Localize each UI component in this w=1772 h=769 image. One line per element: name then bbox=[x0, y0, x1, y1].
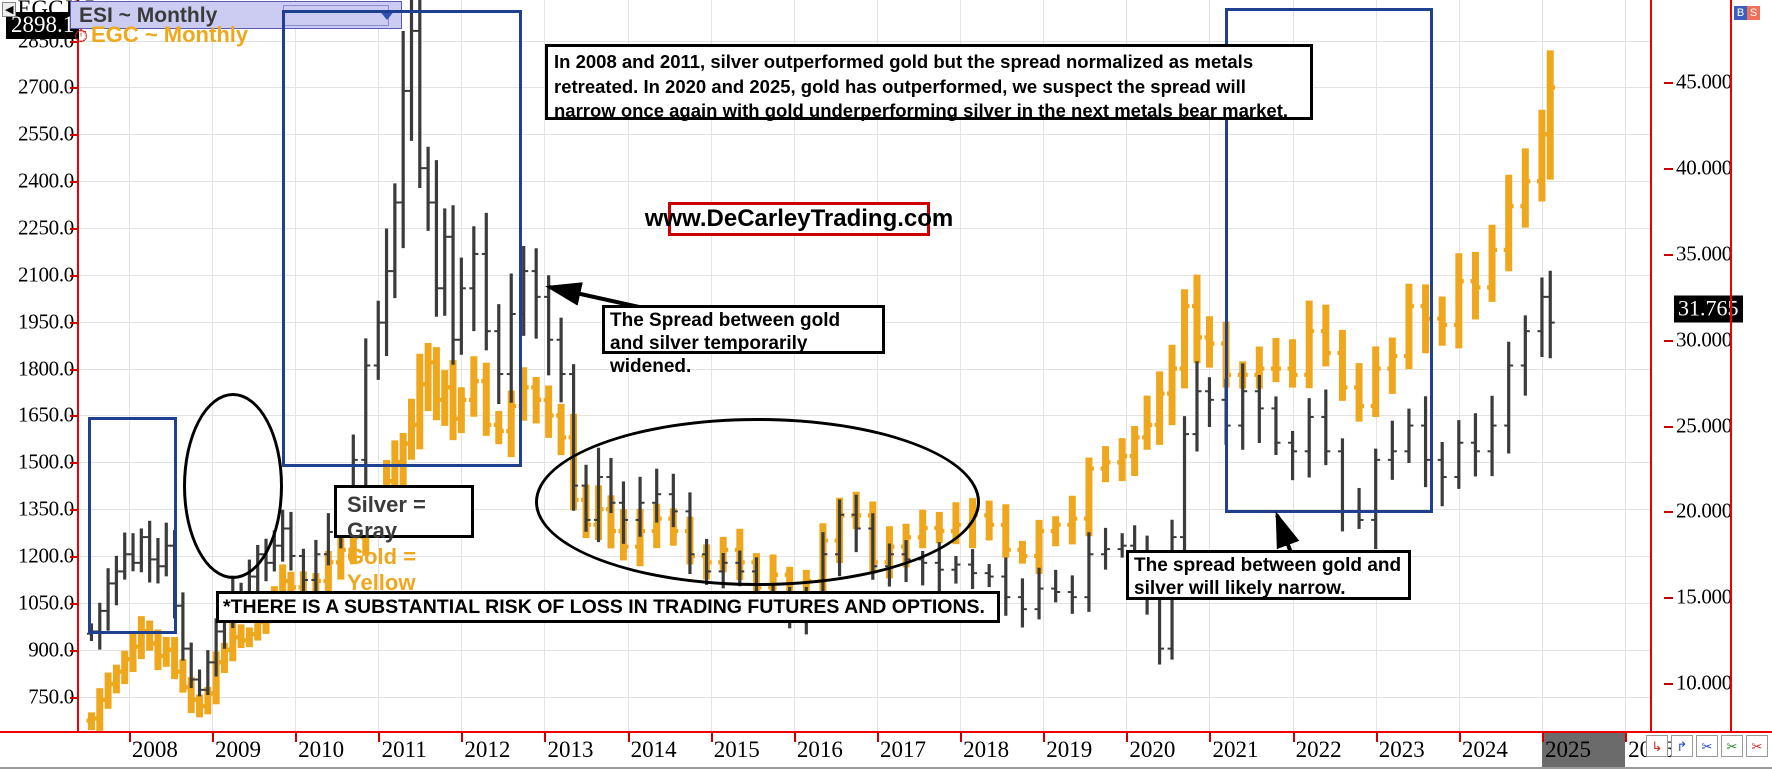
spread-narrow-text: The spread between gold and silver will … bbox=[1129, 553, 1408, 601]
time-axis-tickmark bbox=[295, 733, 297, 742]
risk-disclaimer-text: *THERE IS A SUBSTANTIAL RISK OF LOSS IN … bbox=[219, 594, 997, 619]
left-axis-line bbox=[77, 0, 79, 731]
time-axis-tickmark bbox=[461, 733, 463, 742]
time-axis-tickmark bbox=[1376, 733, 1378, 742]
time-axis-tickmark bbox=[1542, 733, 1544, 742]
risk-disclaimer-box: *THERE IS A SUBSTANTIAL RISK OF LOSS IN … bbox=[216, 591, 1000, 623]
time-axis-tick: 2015 bbox=[714, 737, 760, 763]
right-axis-tickmark bbox=[1664, 168, 1673, 170]
time-axis-tickmark bbox=[544, 733, 546, 742]
right-last-price-badge: 31.765 bbox=[1674, 296, 1743, 323]
second-symbol-label[interactable]: ⏱EGC ~ Monthly bbox=[74, 22, 248, 48]
right-axis-tick: 35.000 bbox=[1676, 241, 1732, 266]
right-axis-tickmark bbox=[1664, 82, 1673, 84]
right-axis-tick: 40.000 bbox=[1676, 156, 1732, 181]
chart-tool-buttons[interactable]: ↳↱✂✂✂ bbox=[1646, 735, 1768, 757]
left-axis-tick: 1950.0 bbox=[18, 309, 74, 334]
buy-badge[interactable]: B bbox=[1734, 6, 1747, 20]
highlight-rect-2008 bbox=[88, 417, 177, 634]
time-axis-tickmark bbox=[378, 733, 380, 742]
right-axis-tick: 30.000 bbox=[1676, 327, 1732, 352]
website-box[interactable]: www.DeCarleyTrading.com bbox=[668, 202, 930, 236]
left-price-axis[interactable]: 2850.02700.02550.02400.02250.02100.01950… bbox=[0, 0, 78, 731]
time-axis-tickmark bbox=[1625, 733, 1627, 742]
left-axis-tick: 1050.0 bbox=[18, 590, 74, 615]
time-axis-tickmark bbox=[1043, 733, 1045, 742]
time-axis-tickmark bbox=[794, 733, 796, 742]
cut-blue-icon[interactable]: ✂ bbox=[1696, 735, 1718, 757]
right-axis-tickmark bbox=[1664, 340, 1673, 342]
right-axis-tick: 25.000 bbox=[1676, 413, 1732, 438]
left-axis-tick: 1500.0 bbox=[18, 450, 74, 475]
clock-icon: ⏱ bbox=[74, 26, 88, 47]
series-legend-box: Silver = Gray Gold = Yellow bbox=[334, 485, 474, 538]
spread-widened-text: The Spread between gold and silver tempo… bbox=[605, 308, 882, 378]
right-price-axis[interactable]: 45.00040.00035.00030.00025.00020.00015.0… bbox=[1650, 0, 1772, 731]
collapse-arrow-icon[interactable]: ◀ bbox=[2, 2, 16, 17]
right-axis-line bbox=[1650, 0, 1652, 731]
time-axis-tick: 2022 bbox=[1296, 737, 1342, 763]
legend-gold-label: Gold = Yellow bbox=[347, 544, 461, 596]
time-axis-tickmark bbox=[1126, 733, 1128, 742]
time-axis-tickmark bbox=[960, 733, 962, 742]
chart-application-window: 2850.02700.02550.02400.02250.02100.01950… bbox=[0, 0, 1772, 769]
time-axis-tick: 2012 bbox=[464, 737, 510, 763]
right-axis-tick: 45.000 bbox=[1676, 70, 1732, 95]
right-axis-tickmark bbox=[1664, 597, 1673, 599]
left-axis-tick: 750.0 bbox=[28, 684, 74, 709]
time-axis-tick: 2016 bbox=[797, 737, 843, 763]
circle-2009-convergence bbox=[183, 393, 283, 579]
time-axis-tick: 2020 bbox=[1129, 737, 1175, 763]
time-axis-tick: 2017 bbox=[880, 737, 926, 763]
time-axis-tickmark bbox=[1209, 733, 1211, 742]
left-axis-tick: 1650.0 bbox=[18, 403, 74, 428]
time-axis-tickmark bbox=[212, 733, 214, 742]
time-axis-tickmark bbox=[628, 733, 630, 742]
time-axis-tickmark bbox=[1459, 733, 1461, 742]
headline-annotation-box: In 2008 and 2011, silver outperformed go… bbox=[545, 44, 1313, 120]
legend-silver-label: Silver = Gray bbox=[347, 492, 461, 544]
left-axis-tick: 2400.0 bbox=[18, 169, 74, 194]
left-axis-tick: 2250.0 bbox=[18, 216, 74, 241]
website-text: www.DeCarleyTrading.com bbox=[645, 205, 954, 233]
right-axis-outer-line bbox=[1730, 0, 1732, 731]
time-axis-tickmark bbox=[711, 733, 713, 742]
time-axis-tickmark bbox=[129, 733, 131, 742]
time-axis-tickmark bbox=[877, 733, 879, 742]
headline-annotation-text: In 2008 and 2011, silver outperformed go… bbox=[548, 47, 1310, 124]
left-axis-tick: 2550.0 bbox=[18, 122, 74, 147]
spread-narrow-box: The spread between gold and silver will … bbox=[1126, 550, 1411, 600]
right-axis-tickmark bbox=[1664, 254, 1673, 256]
second-symbol-text: EGC ~ Monthly bbox=[91, 22, 248, 47]
arrow-down-right-icon[interactable]: ↳ bbox=[1646, 735, 1668, 757]
time-axis-tick: 2018 bbox=[963, 737, 1009, 763]
time-axis-tick: 2010 bbox=[298, 737, 344, 763]
time-axis-tick: 2008 bbox=[132, 737, 178, 763]
right-axis-tickmark bbox=[1664, 511, 1673, 513]
time-axis-tick: 2014 bbox=[631, 737, 677, 763]
time-axis-tick: 2011 bbox=[382, 737, 427, 763]
right-axis-tickmark bbox=[1664, 683, 1673, 685]
time-axis-tick: 2013 bbox=[547, 737, 593, 763]
right-axis-tick: 20.000 bbox=[1676, 499, 1732, 524]
time-axis-tick: 2019 bbox=[1046, 737, 1092, 763]
time-axis-tick: 2021 bbox=[1212, 737, 1258, 763]
time-axis[interactable]: 2008200920102011201220132014201520162017… bbox=[0, 731, 1772, 769]
time-axis-tick: 2025 bbox=[1545, 737, 1591, 763]
time-axis-tickmark bbox=[1293, 733, 1295, 742]
cut-red-icon[interactable]: ✂ bbox=[1746, 735, 1768, 757]
spread-widened-box: The Spread between gold and silver tempo… bbox=[602, 305, 885, 354]
sell-badge[interactable]: S bbox=[1747, 6, 1760, 20]
right-axis-tick: 10.000 bbox=[1676, 670, 1732, 695]
circle-2014-2019-normalized bbox=[535, 418, 980, 586]
right-axis-tickmark bbox=[1664, 426, 1673, 428]
cut-green-icon[interactable]: ✂ bbox=[1721, 735, 1743, 757]
time-axis-line bbox=[0, 731, 1772, 733]
left-axis-tick: 2100.0 bbox=[18, 262, 74, 287]
time-axis-tick: 2023 bbox=[1379, 737, 1425, 763]
left-axis-tick: 1800.0 bbox=[18, 356, 74, 381]
left-axis-tick: 2700.0 bbox=[18, 75, 74, 100]
left-axis-tick: 1200.0 bbox=[18, 544, 74, 569]
time-axis-tick: 2024 bbox=[1462, 737, 1508, 763]
right-axis-tick: 15.000 bbox=[1676, 585, 1732, 610]
buy-sell-badge[interactable]: BS bbox=[1734, 6, 1760, 20]
time-axis-tick: 2009 bbox=[215, 737, 261, 763]
left-axis-tick: 1350.0 bbox=[18, 497, 74, 522]
left-axis-tick: 900.0 bbox=[28, 637, 74, 662]
highlight-rect-2011 bbox=[282, 10, 522, 467]
arrow-up-right-icon[interactable]: ↱ bbox=[1671, 735, 1693, 757]
